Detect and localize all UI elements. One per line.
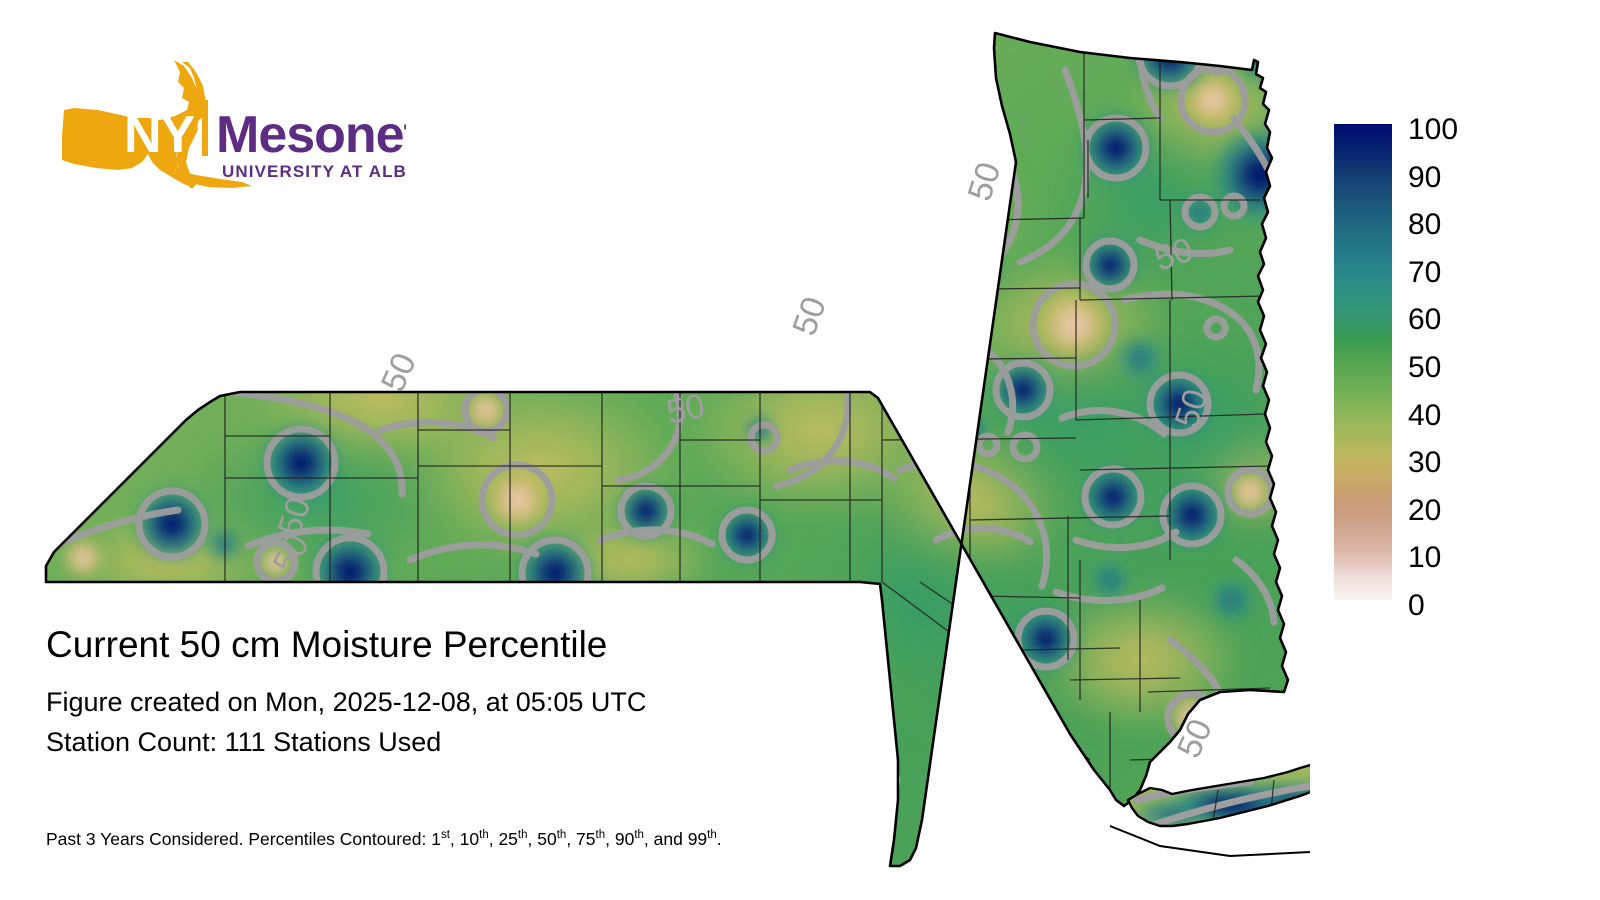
colorbar-tick-70: 70 — [1408, 258, 1441, 288]
contour-label-50: 50 — [961, 158, 1009, 206]
moisture-percentile-map: 50505050505050505075 — [20, 0, 1310, 900]
colorbar-tick-30: 30 — [1408, 448, 1441, 478]
colorbar-tick-0: 0 — [1408, 591, 1425, 621]
figure-footnote: Past 3 Years Considered. Percentiles Con… — [46, 828, 722, 850]
colorbar: 1009080706050403020100 — [1334, 124, 1574, 604]
colorbar-tick-40: 40 — [1408, 401, 1441, 431]
contour-label-50: 50 — [785, 292, 834, 341]
colorbar-tick-50: 50 — [1408, 353, 1441, 383]
colorbar-tick-60: 60 — [1408, 305, 1441, 335]
contour-label-50: 50 — [663, 387, 708, 432]
contour-label-50: 50 — [374, 348, 424, 398]
figure-caption-block: Current 50 cm Moisture Percentile Figure… — [46, 622, 1026, 762]
station-count: Station Count: 111 Stations Used — [46, 722, 1026, 762]
figure-created-timestamp: Figure created on Mon, 2025-12-08, at 05… — [46, 682, 1026, 722]
colorbar-tick-80: 80 — [1408, 210, 1441, 240]
map-mainland-field — [20, 0, 1310, 900]
colorbar-tick-20: 20 — [1408, 496, 1441, 526]
figure-title: Current 50 cm Moisture Percentile — [46, 622, 1026, 668]
colorbar-tick-labels: 1009080706050403020100 — [1408, 124, 1568, 600]
colorbar-tick-90: 90 — [1408, 163, 1441, 193]
colorbar-tick-100: 100 — [1408, 115, 1458, 145]
colorbar-gradient — [1334, 124, 1392, 600]
colorbar-tick-10: 10 — [1408, 543, 1441, 573]
